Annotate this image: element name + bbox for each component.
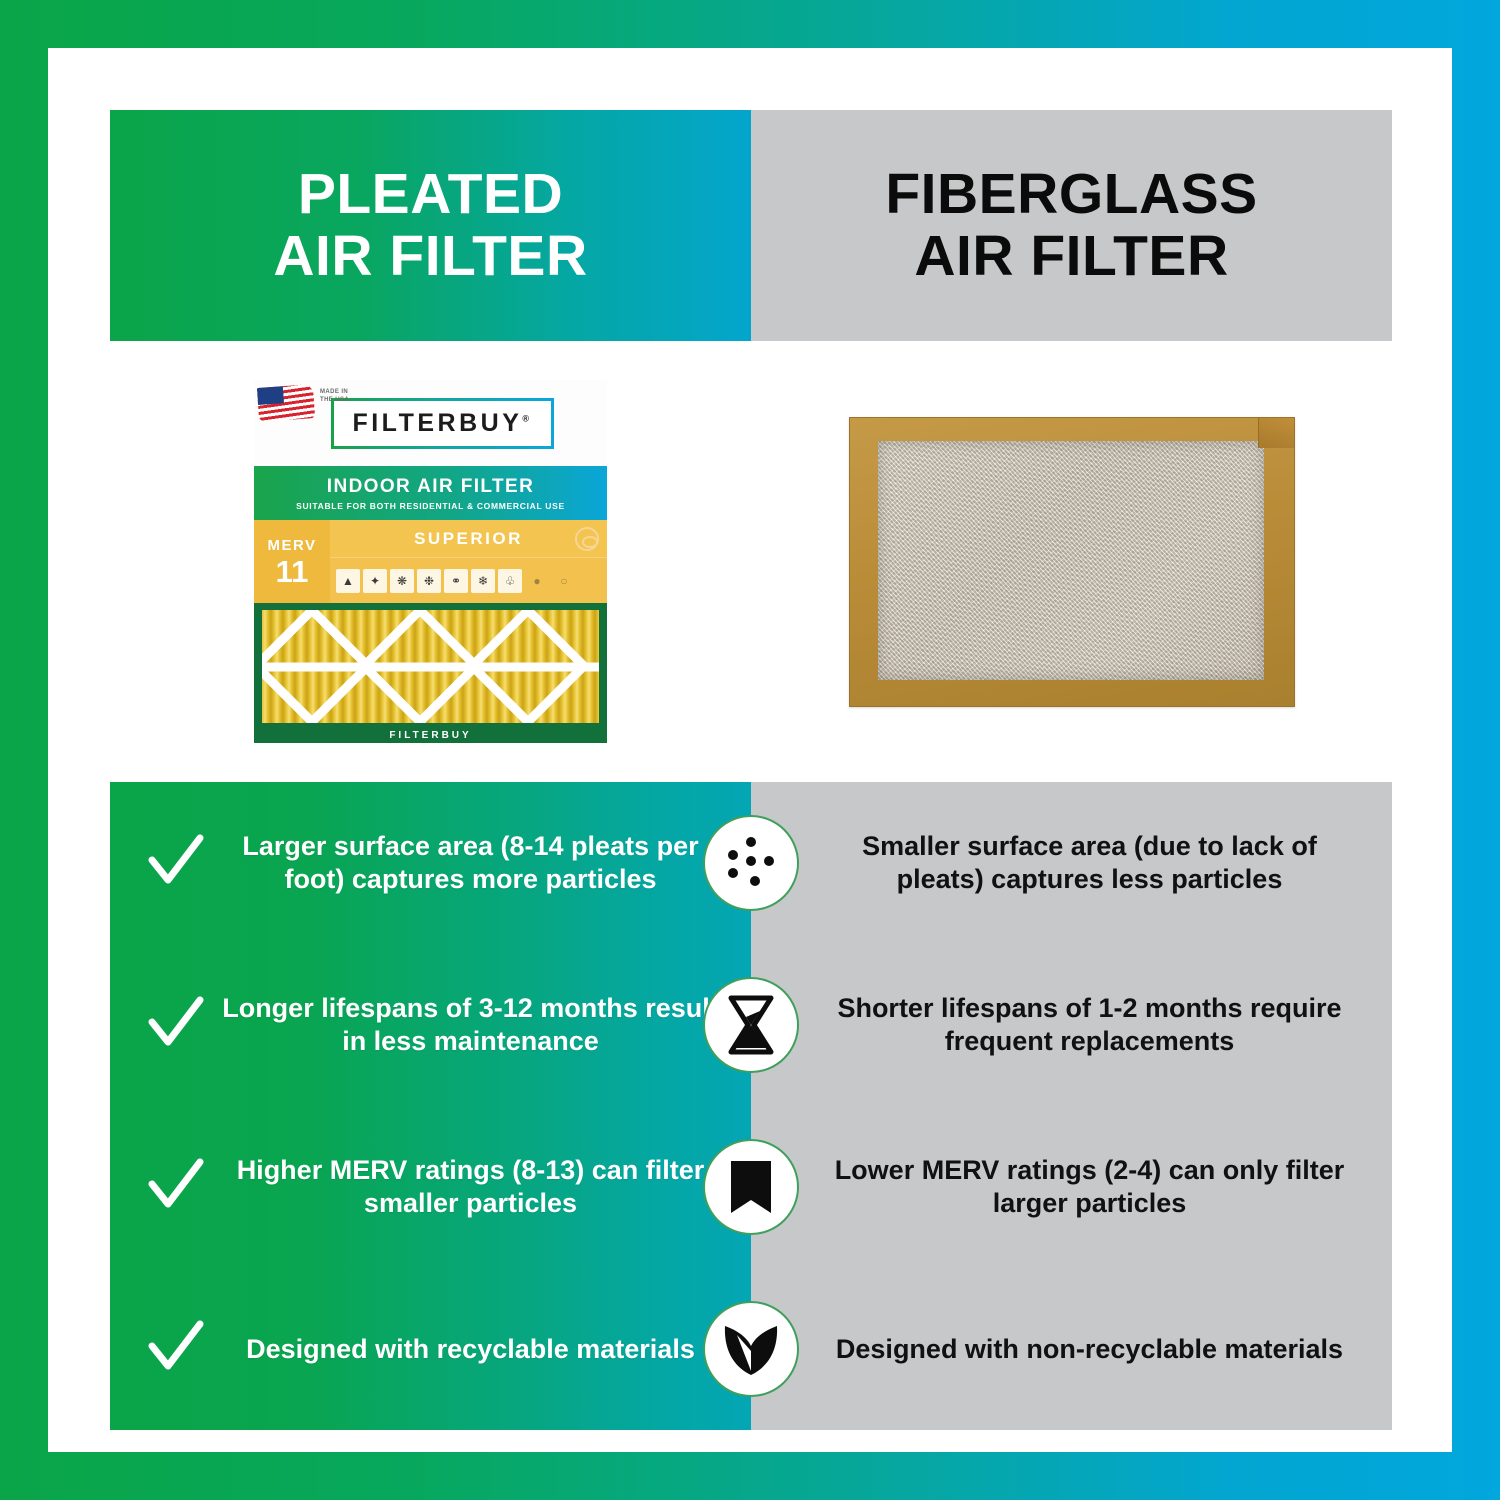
tier-label-row: SUPERIOR bbox=[330, 520, 607, 558]
pleated-media bbox=[262, 610, 599, 723]
fiberglass-filter-image bbox=[849, 417, 1295, 707]
fiberglass-media bbox=[878, 441, 1264, 680]
checkmark-icon bbox=[144, 1318, 206, 1380]
extra-capability-icon-1: ● bbox=[525, 569, 549, 593]
row-4-right-text: Designed with non-recyclable materials bbox=[829, 1333, 1350, 1366]
bookmark-icon bbox=[703, 1139, 799, 1235]
indoor-air-filter-title: INDOOR AIR FILTER bbox=[327, 476, 534, 498]
support-diamond-3 bbox=[466, 610, 590, 723]
comparison-rows: Larger surface area (8-14 pleats per foo… bbox=[110, 782, 1392, 1430]
header-pleated-line1: PLEATED bbox=[298, 162, 563, 226]
checkmark-icon bbox=[144, 832, 206, 894]
extra-capability-icon-2: ○ bbox=[552, 569, 576, 593]
merv-badge: MERV 11 bbox=[254, 520, 330, 603]
row-3-right-text: Lower MERV ratings (2-4) can only filter… bbox=[829, 1154, 1350, 1220]
smoke-icon: ♧ bbox=[498, 569, 522, 593]
filterbuy-logo-text: FILTERBUY® bbox=[352, 409, 532, 438]
comparison-section: Larger surface area (8-14 pleats per foo… bbox=[110, 782, 1392, 1430]
pleated-package-top: MADE IN THE USA FILTERBUY® bbox=[254, 380, 607, 466]
row-1-right: Smaller surface area (due to lack of ple… bbox=[751, 782, 1392, 944]
header-fiberglass-title: FIBERGLASS AIR FILTER bbox=[885, 164, 1257, 287]
trademark-symbol: ® bbox=[522, 413, 532, 423]
bacteria-icon: ⚭ bbox=[444, 569, 468, 593]
filterbuy-logo-box: FILTERBUY® bbox=[331, 398, 553, 449]
row-2-right-text: Shorter lifespans of 1-2 months require … bbox=[829, 992, 1350, 1058]
row-4-right: Designed with non-recyclable materials bbox=[751, 1268, 1392, 1430]
comparison-row: Longer lifespans of 3-12 months result i… bbox=[110, 944, 1392, 1106]
merv-value: 11 bbox=[276, 556, 309, 587]
fiberglass-frame-corner bbox=[1258, 418, 1294, 448]
pleated-footer-brand: FILTERBUY bbox=[254, 730, 607, 741]
pleated-merv-row: MERV 11 SUPERIOR ▲ ✦ ❋ bbox=[254, 520, 607, 603]
fiberglass-product-cell bbox=[751, 341, 1392, 782]
mold-spores-icon: ❉ bbox=[417, 569, 441, 593]
checkmark-icon bbox=[144, 1156, 206, 1218]
pleated-product-cell: MADE IN THE USA FILTERBUY® INDOOR AIR FI… bbox=[110, 341, 751, 782]
product-image-area: MADE IN THE USA FILTERBUY® INDOOR AIR FI… bbox=[110, 341, 1392, 782]
row-2-left-text: Longer lifespans of 3-12 months result i… bbox=[218, 992, 723, 1058]
particle-dots bbox=[724, 837, 778, 889]
header-pleated: PLEATED AIR FILTER bbox=[110, 110, 751, 341]
pleated-tier-block: SUPERIOR ▲ ✦ ❋ ❉ ⚭ ❄ ♧ ● bbox=[330, 520, 607, 603]
pet-dander-icon: ❄ bbox=[471, 569, 495, 593]
header-pleated-title: PLEATED AIR FILTER bbox=[273, 164, 587, 287]
made-in-usa-text: MADE IN THE USA bbox=[320, 389, 349, 404]
merv-label: MERV bbox=[267, 537, 316, 554]
made-in-line2: THE USA bbox=[320, 397, 349, 405]
dust-icon: ▲ bbox=[336, 569, 360, 593]
outer-gradient-frame: PLEATED AIR FILTER FIBERGLASS AIR FILTER bbox=[0, 0, 1500, 1500]
filter-capability-icons: ▲ ✦ ❋ ❉ ⚭ ❄ ♧ ● ○ bbox=[330, 558, 607, 603]
pollen-icon: ❋ bbox=[390, 569, 414, 593]
comparison-row: Larger surface area (8-14 pleats per foo… bbox=[110, 782, 1392, 944]
dustmite-icon: ✦ bbox=[363, 569, 387, 593]
particles-icon bbox=[703, 815, 799, 911]
row-1-right-text: Smaller surface area (due to lack of ple… bbox=[829, 830, 1350, 896]
indoor-air-filter-subtitle: SUITABLE FOR BOTH RESIDENTIAL & COMMERCI… bbox=[296, 501, 565, 511]
row-1-left-text: Larger surface area (8-14 pleats per foo… bbox=[218, 830, 723, 896]
comparison-row: Designed with recyclable materials Desig… bbox=[110, 1268, 1392, 1430]
pleated-filter-image: MADE IN THE USA FILTERBUY® INDOOR AIR FI… bbox=[254, 380, 607, 743]
row-4-left: Designed with recyclable materials bbox=[110, 1268, 751, 1430]
made-in-line1: MADE IN bbox=[320, 389, 349, 397]
row-4-left-text: Designed with recyclable materials bbox=[218, 1333, 723, 1366]
infographic-page: PLEATED AIR FILTER FIBERGLASS AIR FILTER bbox=[48, 48, 1452, 1452]
header-band: PLEATED AIR FILTER FIBERGLASS AIR FILTER bbox=[110, 110, 1392, 341]
pleated-filter-body: FILTERBUY bbox=[254, 603, 607, 743]
header-fiberglass: FIBERGLASS AIR FILTER bbox=[751, 110, 1392, 341]
header-fiberglass-line2: AIR FILTER bbox=[885, 226, 1257, 288]
ul-certification-icon bbox=[575, 527, 599, 551]
header-fiberglass-line1: FIBERGLASS bbox=[885, 162, 1257, 226]
pleated-package-band: INDOOR AIR FILTER SUITABLE FOR BOTH RESI… bbox=[254, 466, 607, 520]
tier-label: SUPERIOR bbox=[414, 529, 523, 549]
row-3-right: Lower MERV ratings (2-4) can only filter… bbox=[751, 1106, 1392, 1268]
usa-flag-icon bbox=[257, 384, 315, 422]
header-pleated-line2: AIR FILTER bbox=[273, 226, 587, 288]
row-2-left: Longer lifespans of 3-12 months result i… bbox=[110, 944, 751, 1106]
row-3-left: Higher MERV ratings (8-13) can filter sm… bbox=[110, 1106, 751, 1268]
hourglass-icon bbox=[703, 977, 799, 1073]
leaf-icon bbox=[703, 1301, 799, 1397]
row-2-right: Shorter lifespans of 1-2 months require … bbox=[751, 944, 1392, 1106]
filterbuy-wordmark: FILTERBUY bbox=[352, 409, 522, 437]
checkmark-icon bbox=[144, 994, 206, 1056]
row-1-left: Larger surface area (8-14 pleats per foo… bbox=[110, 782, 751, 944]
comparison-row: Higher MERV ratings (8-13) can filter sm… bbox=[110, 1106, 1392, 1268]
row-3-left-text: Higher MERV ratings (8-13) can filter sm… bbox=[218, 1154, 723, 1220]
support-diamond-2 bbox=[358, 610, 482, 723]
